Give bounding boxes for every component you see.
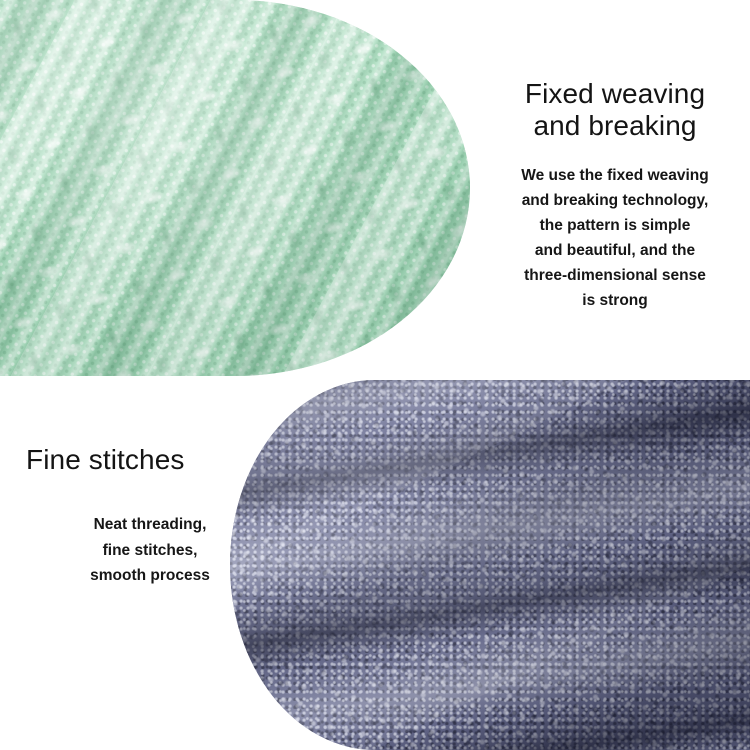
product-feature-image: Fixed weaving and breaking We use the fi… [0, 0, 750, 750]
fine-stitches-body: Neat threading, fine stitches, smooth pr… [22, 512, 272, 587]
fine-stitches-text-block: Fine stitches Neat threading, fine stitc… [22, 444, 272, 588]
blue-towel-photo [230, 380, 750, 750]
fine-stitches-heading: Fine stitches [22, 444, 272, 476]
green-texture [0, 0, 470, 376]
green-shading-layer [0, 0, 470, 376]
fixed-weaving-text-block: Fixed weaving and breaking We use the fi… [486, 78, 744, 314]
green-towel-photo [0, 0, 470, 376]
fixed-weaving-heading: Fixed weaving and breaking [486, 78, 744, 143]
blue-shading-layer [230, 380, 750, 750]
fixed-weaving-body: We use the fixed weaving and breaking te… [486, 163, 744, 314]
blue-texture [230, 380, 750, 750]
